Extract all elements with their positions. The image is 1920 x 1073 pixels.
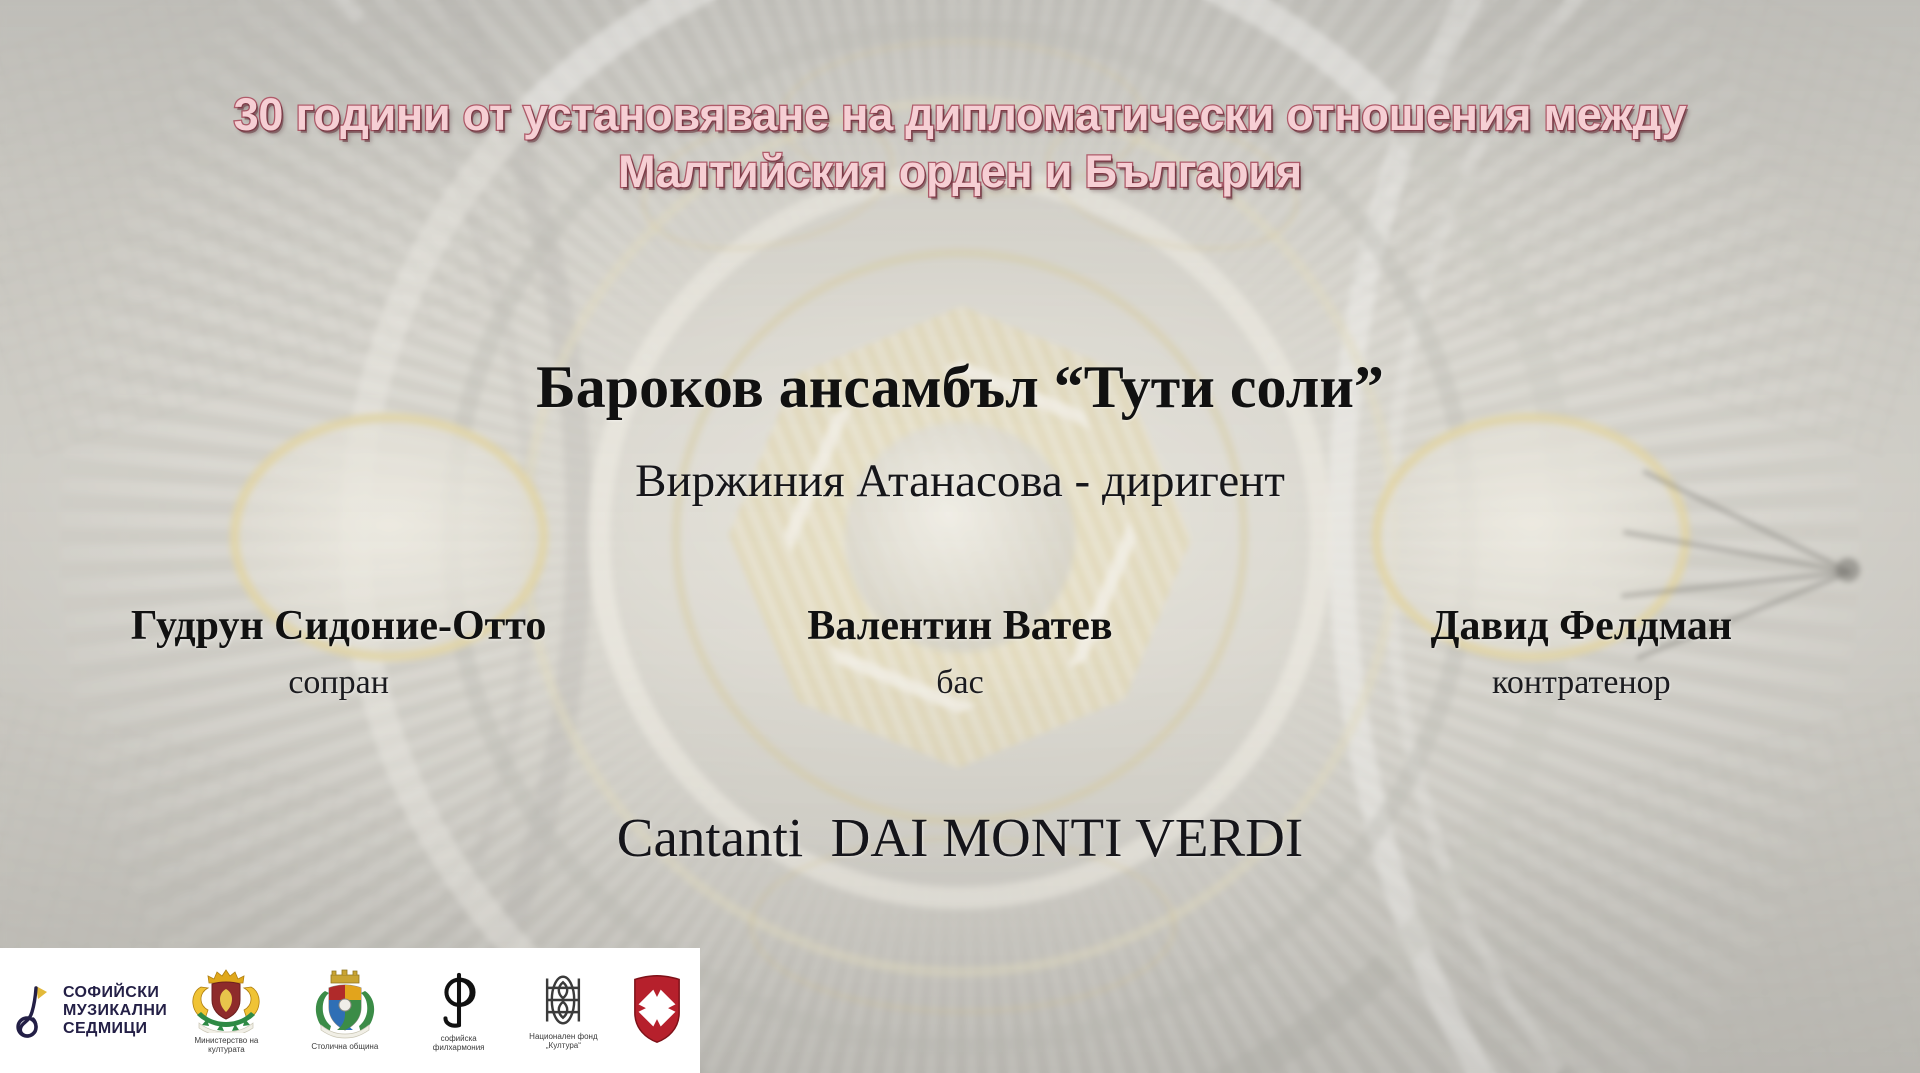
logo-sofia-municipality-caption: Столична община: [311, 1042, 378, 1052]
logo-ministry-of-culture[interactable]: Министерство на културата: [167, 948, 285, 1073]
logo-national-fund-culture[interactable]: Национален фонд „Култура“: [513, 948, 613, 1073]
logo-sofia-music-weeks-text: СОФИЙСКИ МУЗИКАЛНИ СЕДМИЦИ: [63, 984, 167, 1038]
conductor-credit: Виржиния Атанасова - диригент: [0, 452, 1920, 510]
performer-entry: Давид Фелдман контратенор: [1271, 600, 1892, 704]
headline-line-2: Малтийския орден и България: [26, 143, 1894, 200]
logo-national-fund-culture-caption: Национален фонд „Култура“: [518, 1032, 608, 1051]
logo-sofia-philharmonic[interactable]: софийска филхармония: [404, 948, 513, 1073]
logo-sofia-municipality[interactable]: Столична община: [286, 948, 404, 1073]
performer-role: бас: [649, 662, 1270, 704]
program-title-part-1: Cantanti: [617, 807, 803, 868]
performer-entry: Гудрун Сидоние-Отто сопран: [28, 600, 649, 704]
performer-list: Гудрун Сидоние-Отто сопран Валентин Вате…: [28, 600, 1892, 704]
headline-line-1: 30 години от установяване на дипломатиче…: [26, 86, 1894, 143]
logo-sofia-music-weeks[interactable]: СОФИЙСКИ МУЗИКАЛНИ СЕДМИЦИ: [10, 948, 167, 1073]
program-title: Cantanti DAI MONTI VERDI: [0, 805, 1920, 871]
philharmonic-monogram-icon: [430, 969, 488, 1031]
performer-role: контратенор: [1271, 662, 1892, 704]
smw-line-1: СОФИЙСКИ: [63, 984, 159, 1001]
ensemble-name: Бароков ансамбъл “Тути соли”: [0, 352, 1920, 422]
performer-entry: Валентин Ватев бас: [649, 600, 1270, 704]
bulgarian-coat-of-arms-icon: [183, 967, 269, 1033]
performer-name: Давид Фелдман: [1271, 600, 1892, 652]
sponsor-logo-bar: СОФИЙСКИ МУЗИКАЛНИ СЕДМИЦИ: [0, 948, 700, 1073]
maltese-cross-shield-icon: [627, 973, 687, 1045]
program-title-part-2: DAI MONTI VERDI: [831, 807, 1304, 868]
sofia-coat-of-arms-icon: [305, 969, 385, 1039]
logo-order-of-malta[interactable]: [614, 948, 701, 1073]
event-headline: 30 години от установяване на дипломатиче…: [0, 86, 1920, 200]
logo-sofia-philharmonic-caption: софийска филхармония: [414, 1034, 504, 1053]
performer-role: сопран: [28, 662, 649, 704]
smw-line-2: МУЗИКАЛНИ: [63, 1002, 167, 1019]
presentation-slide: 30 години от установяване на дипломатиче…: [0, 0, 1920, 1073]
performer-name: Гудрун Сидоние-Отто: [28, 600, 649, 652]
national-fund-monogram-icon: [535, 971, 591, 1029]
logo-ministry-of-culture-caption: Министерство на културата: [181, 1036, 271, 1055]
treble-clef-icon: [14, 982, 56, 1040]
smw-line-3: СЕДМИЦИ: [63, 1020, 147, 1037]
performer-name: Валентин Ватев: [649, 600, 1270, 652]
